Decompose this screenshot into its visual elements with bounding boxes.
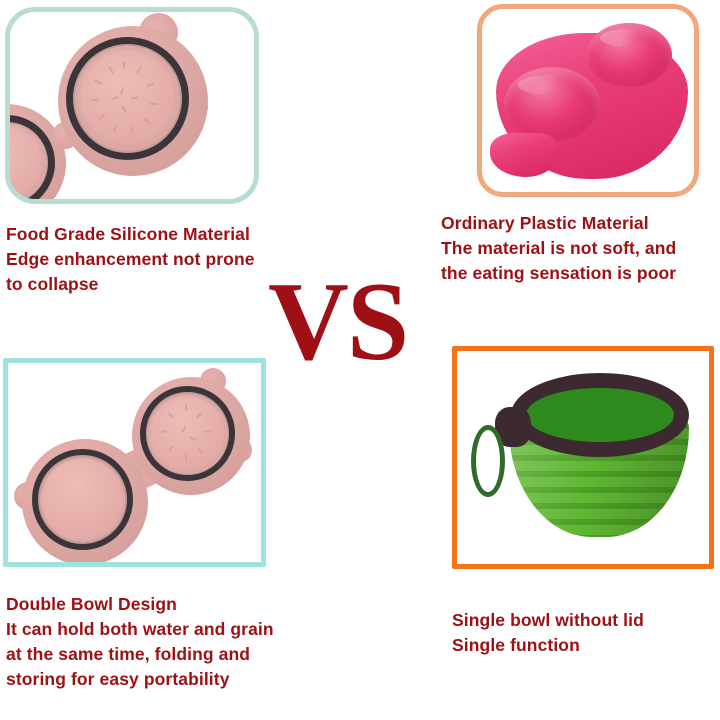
silicone-bowl-open [22,439,148,565]
plastic-bowl-foot [490,133,556,177]
green-collapsible-bowl-image [457,351,709,564]
bowl-inner-disc-lower [42,459,123,540]
caption-top-right: Ordinary Plastic Material The material i… [441,211,720,286]
pink-silicone-bowl-with-lid-image [10,12,254,199]
caption-bottom-right: Single bowl without lid Single function [452,608,720,658]
main-bowl-lid [58,26,208,176]
vs-label: VS [268,266,407,378]
lid-inner-disc [81,52,174,145]
comparison-infographic: Food Grade Silicone Material Edge enhanc… [0,0,720,720]
panel-frame-top-right [477,4,699,197]
panel-frame-bottom-right [452,346,714,569]
panel-frame-bottom-left [3,358,266,567]
pink-silicone-double-bowl-image [8,363,261,562]
green-bowl-rim [511,373,689,457]
secondary-bowl-partial [5,104,66,204]
panel-frame-top-left [5,7,259,204]
pink-plastic-double-bowl-image [482,9,694,192]
silicone-bowl-with-lid [132,377,250,495]
caption-bottom-left: Double Bowl Design It can hold both wate… [6,592,366,692]
carabiner-clip-icon [471,425,505,497]
plastic-bowl-highlight-left [518,75,582,95]
plastic-bowl-highlight-right [600,29,658,47]
bowl-inner-disc-upper [151,397,224,470]
